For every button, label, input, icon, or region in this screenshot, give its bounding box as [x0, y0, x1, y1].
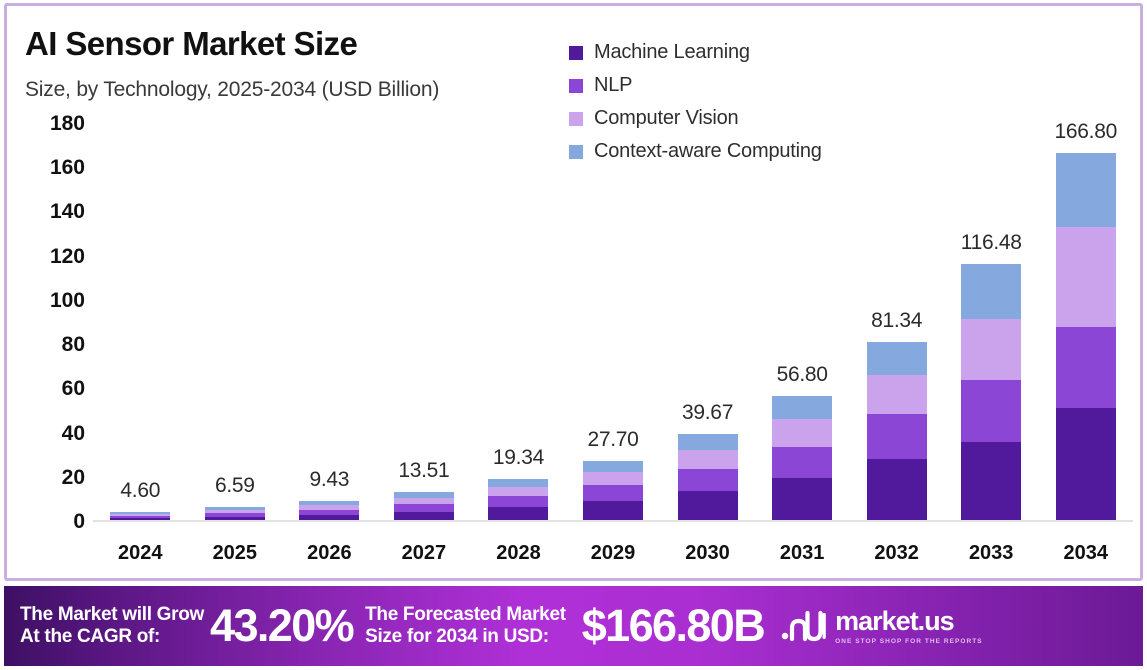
stacked-bar[interactable]: 39.67 [678, 434, 738, 522]
legend-swatch-icon [569, 46, 583, 60]
cagr-caption-line-2: At the CAGR of: [20, 626, 204, 648]
y-axis-tick: 40 [7, 422, 85, 446]
bar-slot: 116.48 [944, 124, 1039, 522]
stacked-bar[interactable]: 81.34 [867, 342, 927, 522]
bar-segment[interactable] [583, 485, 643, 500]
bar-segment[interactable] [867, 459, 927, 522]
logo-tagline: ONE STOP SHOP FOR THE REPORTS [835, 638, 982, 645]
bar-segment[interactable] [867, 342, 927, 374]
x-axis-tick: 2026 [282, 542, 377, 572]
bar-slot: 19.34 [471, 124, 566, 522]
y-axis: 180160140120100806040200 [7, 124, 85, 522]
legend-item-machine-learning[interactable]: Machine Learning [569, 36, 822, 69]
forecast-caption: The Forecasted Market Size for 2034 in U… [365, 604, 566, 649]
y-axis-tick: 60 [7, 377, 85, 401]
bar-total-label: 27.70 [587, 428, 638, 452]
cagr-value: 43.20% [210, 600, 353, 652]
x-axis-tick: 2024 [93, 542, 188, 572]
bar-segment[interactable] [678, 434, 738, 450]
bar-total-label: 56.80 [777, 363, 828, 387]
bar-total-label: 6.59 [215, 474, 255, 498]
cagr-caption-line-1: The Market will Grow [20, 604, 204, 626]
stacked-bar[interactable]: 13.51 [394, 492, 454, 522]
bar-segment[interactable] [772, 478, 832, 522]
legend-item-nlp[interactable]: NLP [569, 69, 822, 102]
bar-total-label: 13.51 [398, 459, 449, 483]
bar-segment[interactable] [1056, 153, 1116, 227]
bar-segment[interactable] [583, 501, 643, 522]
bar-segment[interactable] [867, 375, 927, 415]
bar-group: 4.606.599.4313.5119.3427.7039.6756.8081.… [93, 124, 1133, 522]
x-axis-tick: 2032 [849, 542, 944, 572]
bar-segment[interactable] [961, 442, 1021, 522]
bar-total-label: 116.48 [961, 231, 1022, 255]
page-title: AI Sensor Market Size [25, 25, 357, 63]
x-axis-tick: 2028 [471, 542, 566, 572]
bar-segment[interactable] [772, 419, 832, 447]
x-axis-tick: 2033 [944, 542, 1039, 572]
x-axis-tick: 2031 [755, 542, 850, 572]
bar-total-label: 19.34 [493, 446, 544, 470]
x-axis-tick: 2030 [660, 542, 755, 572]
bar-segment[interactable] [678, 491, 738, 522]
bar-segment[interactable] [867, 414, 927, 459]
bar-segment[interactable] [961, 319, 1021, 381]
bar-segment[interactable] [678, 469, 738, 491]
bar-segment[interactable] [678, 450, 738, 469]
bar-total-label: 166.80 [1055, 120, 1117, 144]
bar-segment[interactable] [583, 461, 643, 472]
legend-label: Machine Learning [594, 41, 750, 64]
forecast-value: $166.80B [582, 600, 764, 652]
market-us-logo[interactable]: market.us ONE STOP SHOP FOR THE REPORTS [780, 608, 982, 645]
y-axis-tick: 0 [7, 510, 85, 534]
logo-wordmark: market.us [835, 608, 982, 635]
plot-area: 4.606.599.4313.5119.3427.7039.6756.8081.… [93, 124, 1133, 522]
x-axis-tick: 2034 [1038, 542, 1133, 572]
y-axis-tick: 20 [7, 466, 85, 490]
forecast-caption-line-1: The Forecasted Market [365, 604, 566, 626]
bar-segment[interactable] [488, 496, 548, 507]
bar-segment[interactable] [583, 472, 643, 485]
x-axis-tick: 2029 [566, 542, 661, 572]
forecast-caption-line-2: Size for 2034 in USD: [365, 626, 566, 648]
bar-segment[interactable] [961, 380, 1021, 442]
bar-slot: 56.80 [755, 124, 850, 522]
bar-total-label: 4.60 [120, 479, 160, 503]
y-axis-tick: 140 [7, 200, 85, 224]
stacked-bar[interactable]: 19.34 [488, 479, 548, 522]
y-axis-tick: 100 [7, 289, 85, 313]
bar-segment[interactable] [394, 504, 454, 511]
y-axis-tick: 120 [7, 245, 85, 269]
ai-sensor-market-infographic: AI Sensor Market Size Size, by Technolog… [0, 0, 1147, 670]
page-subtitle: Size, by Technology, 2025-2034 (USD Bill… [25, 78, 439, 102]
x-axis: 2024202520262027202820292030203120322033… [93, 542, 1133, 572]
chart-card: AI Sensor Market Size Size, by Technolog… [4, 3, 1143, 581]
stacked-bar[interactable]: 116.48 [961, 264, 1021, 522]
bar-total-label: 9.43 [310, 468, 350, 492]
bar-slot: 166.80 [1038, 124, 1133, 522]
bar-total-label: 81.34 [871, 309, 922, 333]
summary-banner: The Market will Grow At the CAGR of: 43.… [4, 586, 1143, 666]
bar-slot: 6.59 [188, 124, 283, 522]
bar-slot: 9.43 [282, 124, 377, 522]
bar-total-label: 39.67 [682, 401, 733, 425]
x-axis-tick: 2027 [377, 542, 472, 572]
y-axis-tick: 180 [7, 112, 85, 136]
bar-segment[interactable] [772, 396, 832, 419]
stacked-bar[interactable]: 9.43 [299, 501, 359, 522]
y-axis-tick: 160 [7, 156, 85, 180]
bar-segment[interactable] [488, 487, 548, 496]
bar-slot: 81.34 [849, 124, 944, 522]
bar-segment[interactable] [1056, 408, 1116, 522]
bar-slot: 39.67 [660, 124, 755, 522]
chart-card-inner: AI Sensor Market Size Size, by Technolog… [7, 6, 1140, 578]
legend-label: NLP [594, 74, 632, 97]
bar-slot: 13.51 [377, 124, 472, 522]
market-us-logo-icon [780, 609, 826, 643]
stacked-bar[interactable]: 27.70 [583, 461, 643, 522]
stacked-bar[interactable]: 166.80 [1056, 153, 1116, 522]
cagr-caption: The Market will Grow At the CAGR of: [20, 604, 204, 649]
legend-swatch-icon [569, 79, 583, 93]
bar-slot: 4.60 [93, 124, 188, 522]
bar-segment[interactable] [961, 264, 1021, 318]
axis-baseline [93, 520, 1133, 522]
bar-segment[interactable] [1056, 327, 1116, 408]
x-axis-tick: 2025 [188, 542, 283, 572]
bar-slot: 27.70 [566, 124, 661, 522]
bar-segment[interactable] [1056, 227, 1116, 327]
stacked-bar[interactable]: 56.80 [772, 396, 832, 522]
market-us-logo-text: market.us ONE STOP SHOP FOR THE REPORTS [835, 608, 982, 645]
bar-segment[interactable] [488, 479, 548, 487]
bar-segment[interactable] [772, 447, 832, 478]
y-axis-tick: 80 [7, 333, 85, 357]
